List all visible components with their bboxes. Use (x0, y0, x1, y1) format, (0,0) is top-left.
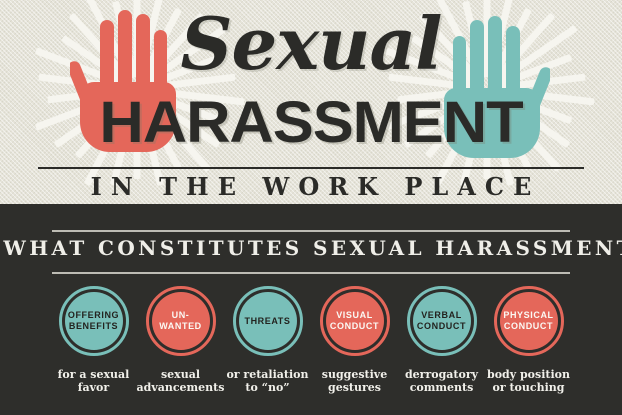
title-block-word: HARASSMENT (0, 94, 622, 152)
category-label-line2: CONDUCT (504, 321, 553, 331)
category-label: OFFERINGBENEFITS (64, 310, 123, 332)
title-divider (38, 167, 584, 169)
section-title: WHAT CONSTITUTES SEXUAL HARASSMENT? (0, 236, 622, 260)
category-caption-line1: suggestive (322, 368, 387, 381)
category-label: VERBALCONDUCT (413, 310, 470, 332)
subtitle: IN THE WORK PLACE (0, 172, 622, 201)
section-divider-bottom (52, 272, 570, 274)
infographic-page: Sexual HARASSMENT IN THE WORK PLACE WHAT… (0, 0, 622, 415)
category-caption-line2: favor (78, 381, 109, 394)
category-label-line1: UN- (172, 310, 190, 320)
list-item[interactable]: OFFERINGBENEFITSfor a sexualfavor (59, 286, 129, 394)
category-caption: sexualadvancements (134, 368, 228, 394)
list-item[interactable]: THREATSor retaliationto “no” (233, 286, 303, 394)
category-circle[interactable]: PHYSICALCONDUCT (494, 286, 564, 356)
list-item[interactable]: VISUALCONDUCTsuggestivegestures (320, 286, 390, 394)
category-label-line2: CONDUCT (330, 321, 379, 331)
title-script-word: Sexual (0, 8, 622, 80)
category-circle[interactable]: UN-WANTED (146, 286, 216, 356)
category-label: VISUALCONDUCT (326, 310, 383, 332)
constitutes-list: OFFERINGBENEFITSfor a sexualfavorUN-WANT… (0, 286, 622, 394)
category-label-line2: BENEFITS (69, 321, 118, 331)
category-caption-line2: to “no” (245, 381, 289, 394)
category-caption-line1: for a sexual (58, 368, 130, 381)
category-caption-line2: advancements (137, 381, 225, 394)
category-caption: body positionor touching (482, 368, 576, 394)
category-caption-line2: or touching (493, 381, 565, 394)
content-section: WHAT CONSTITUTES SEXUAL HARASSMENT? OFFE… (0, 204, 622, 415)
list-item[interactable]: UN-WANTEDsexualadvancements (146, 286, 216, 394)
list-item[interactable]: VERBALCONDUCTderrogatorycomments (407, 286, 477, 394)
category-label-line1: VERBAL (421, 310, 462, 320)
category-label-line2: CONDUCT (417, 321, 466, 331)
category-label: UN-WANTED (155, 310, 206, 332)
section-divider-top (52, 230, 570, 232)
category-label-line2: WANTED (159, 321, 202, 331)
category-circle[interactable]: VISUALCONDUCT (320, 286, 390, 356)
list-item[interactable]: PHYSICALCONDUCTbody positionor touching (494, 286, 564, 394)
category-caption-line2: comments (410, 381, 474, 394)
category-caption: or retaliationto “no” (221, 368, 315, 394)
category-caption-line1: body position (487, 368, 570, 381)
header-banner: Sexual HARASSMENT IN THE WORK PLACE (0, 0, 622, 204)
category-caption: suggestivegestures (308, 368, 402, 394)
category-caption-line2: gestures (328, 381, 381, 394)
category-caption-line1: or retaliation (226, 368, 308, 381)
category-circle[interactable]: OFFERINGBENEFITS (59, 286, 129, 356)
category-caption: for a sexualfavor (47, 368, 141, 394)
category-caption: derrogatorycomments (395, 368, 489, 394)
category-caption-line1: sexual (161, 368, 200, 381)
category-circle[interactable]: VERBALCONDUCT (407, 286, 477, 356)
category-label-line1: THREATS (244, 316, 290, 326)
category-label-line1: VISUAL (336, 310, 373, 320)
category-caption-line1: derrogatory (405, 368, 478, 381)
category-circle[interactable]: THREATS (233, 286, 303, 356)
category-label: PHYSICALCONDUCT (499, 310, 557, 332)
category-label-line1: OFFERING (68, 310, 119, 320)
category-label: THREATS (240, 316, 294, 327)
category-label-line1: PHYSICAL (503, 310, 553, 320)
